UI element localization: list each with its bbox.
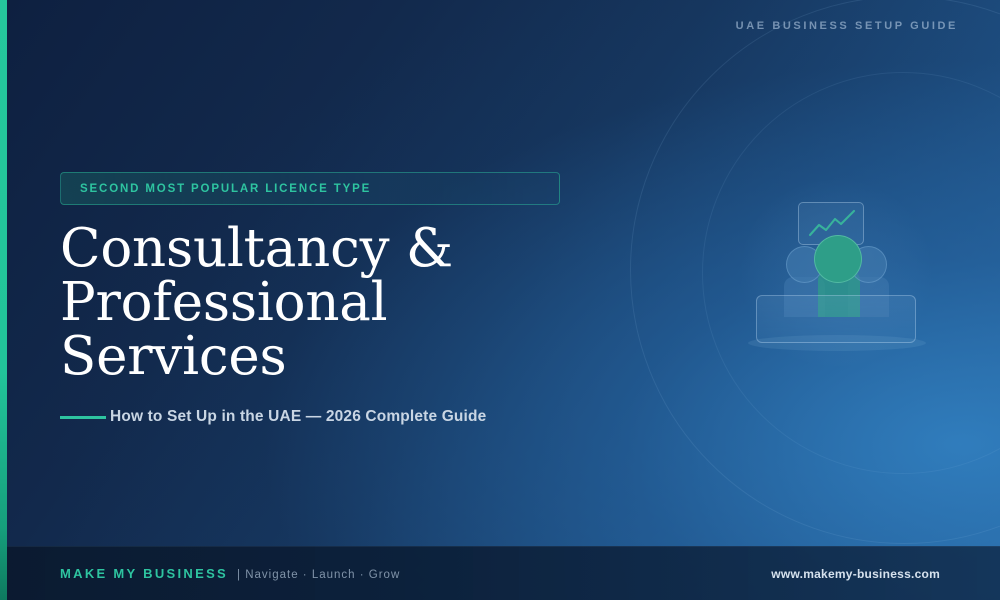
- page-subtitle: How to Set Up in the UAE — 2026 Complete…: [110, 408, 486, 426]
- podium-desk: [756, 295, 916, 343]
- licence-type-badge-label: SECOND MOST POPULAR LICENCE TYPE: [80, 183, 371, 195]
- brand-name: MAKE MY BUSINESS: [60, 566, 228, 581]
- slide-canvas: UAE BUSINESS SETUP GUIDE SECOND MOST POP…: [0, 0, 1000, 600]
- subtitle-rule: [60, 416, 106, 419]
- footer-bar: MAKE MY BUSINESS | Navigate · Launch · G…: [0, 546, 1000, 600]
- page-title: Consultancy & Professional Services: [60, 222, 600, 384]
- team-presentation-illustration: [730, 185, 945, 360]
- licence-type-badge: SECOND MOST POPULAR LICENCE TYPE: [60, 172, 560, 205]
- header-eyebrow: UAE BUSINESS SETUP GUIDE: [736, 20, 958, 32]
- left-accent-bar: [0, 0, 7, 600]
- footer-brand-group: MAKE MY BUSINESS | Navigate · Launch · G…: [60, 566, 400, 581]
- person-center-head: [814, 235, 862, 283]
- brand-tagline: | Navigate · Launch · Grow: [237, 569, 400, 581]
- website-url[interactable]: www.makemy-business.com: [771, 567, 940, 581]
- subtitle-row: How to Set Up in the UAE — 2026 Complete…: [60, 408, 486, 426]
